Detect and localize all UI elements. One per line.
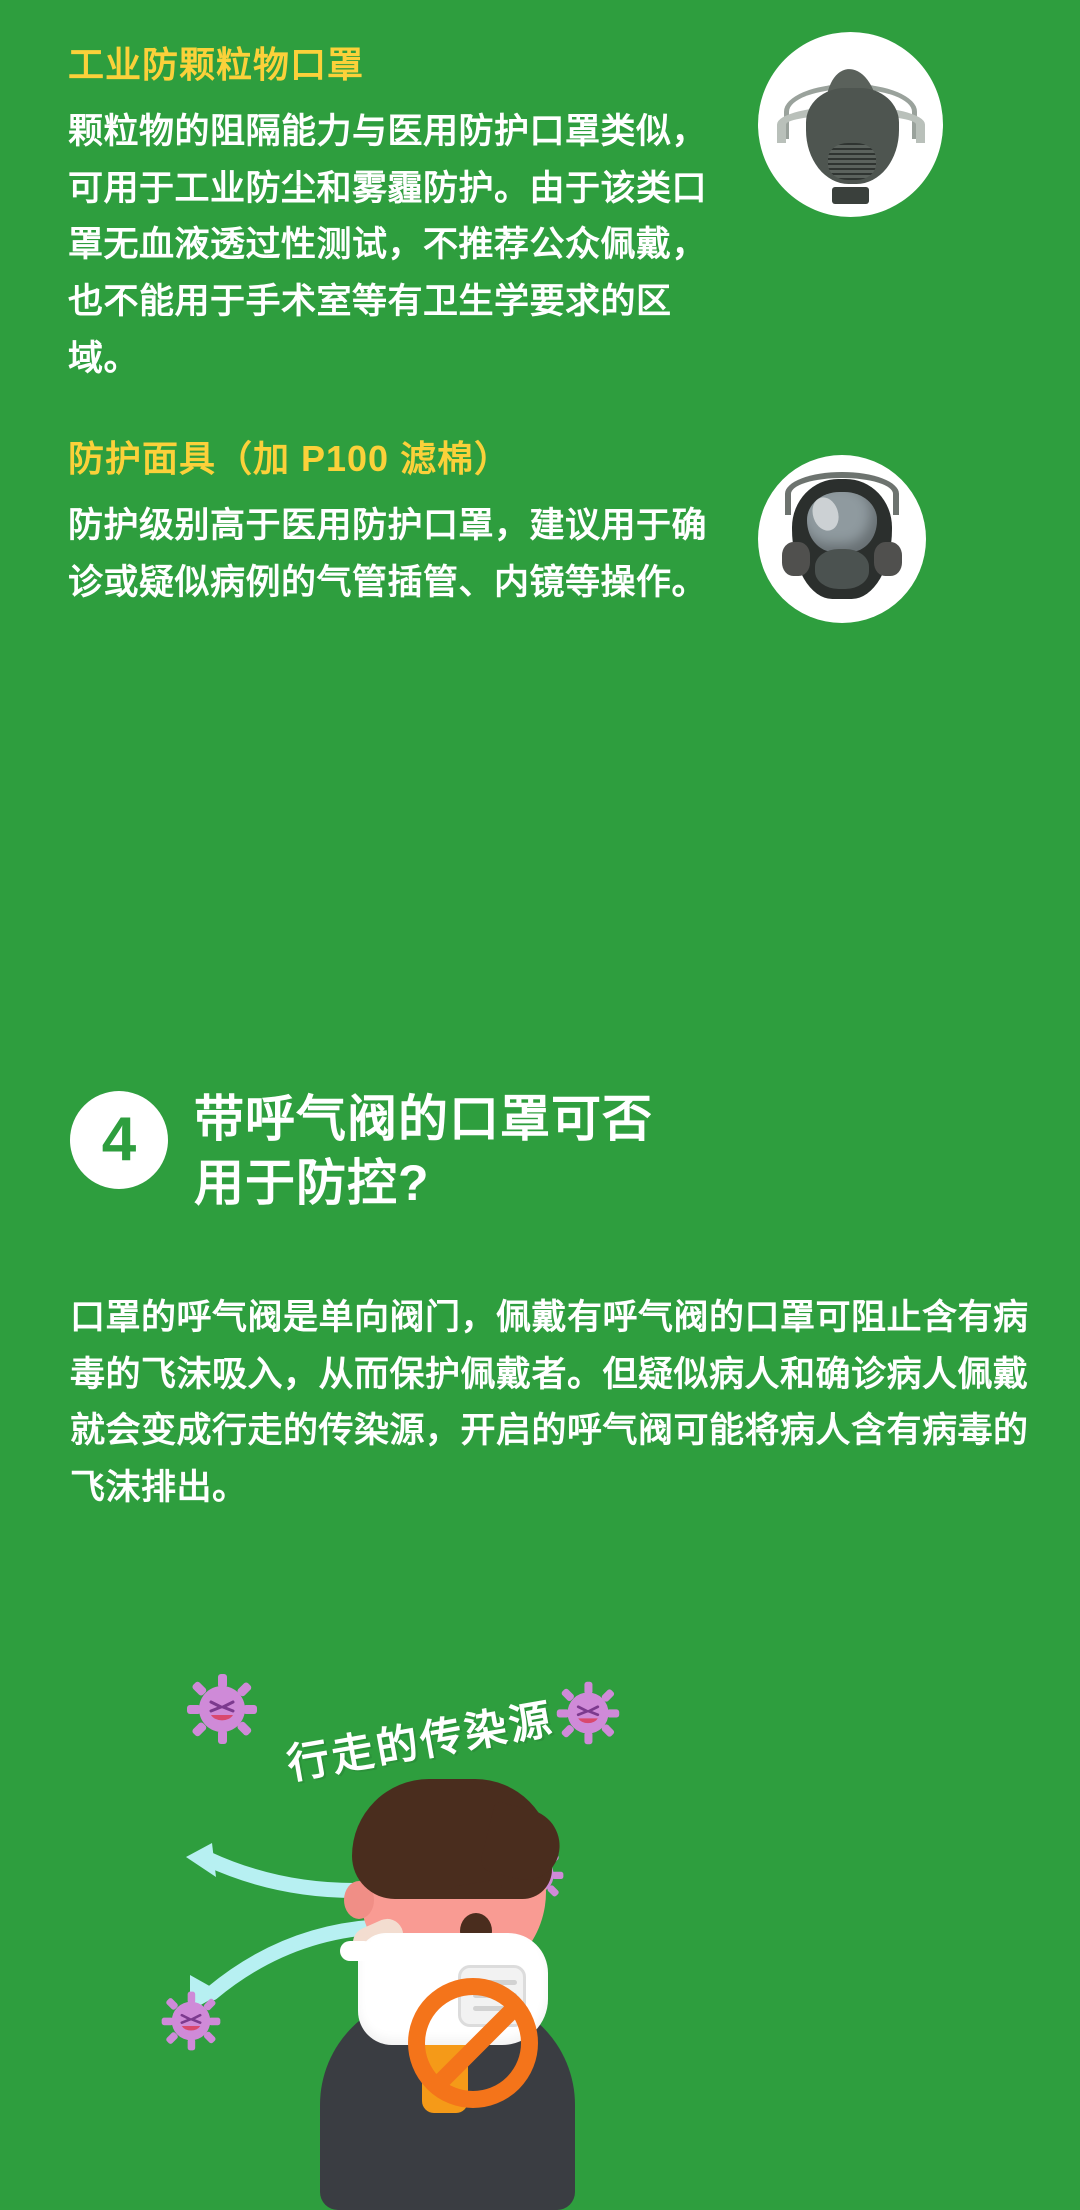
section-protective-face-mask-p100: 防护面具（加 P100 滤棉） 防护级别高于医用防护口罩，建议用于确诊或疑似病例…: [68, 430, 728, 611]
section-1-heading: 工业防颗粒物口罩: [68, 36, 728, 88]
virus-character-icon: [555, 1680, 621, 1746]
full-face-mask-photo: [758, 455, 926, 623]
mask-exhalation-port-icon: [815, 549, 869, 589]
section-2-body: 防护级别高于医用防护口罩，建议用于确诊或疑似病例的气管插管、内镜等操作。: [68, 498, 718, 611]
illustration-walking-infection-source: 行走的传染源: [0, 1660, 1080, 2198]
section-1-body: 颗粒物的阻隔能力与医用防护口罩类似，可用于工业防尘和雾霾防护。由于该类口罩无血液…: [68, 104, 718, 387]
virus-character-icon: [185, 1672, 259, 1746]
question-4-body: 口罩的呼气阀是单向阀门，佩戴有呼气阀的口罩可阻止含有病毒的飞沫吸入，从而保护佩戴…: [70, 1290, 1030, 1517]
section-industrial-particulate-mask: 工业防颗粒物口罩 颗粒物的阻隔能力与医用防护口罩类似，可用于工业防尘和雾霾防护。…: [68, 36, 728, 387]
infographic-page: 工业防颗粒物口罩 颗粒物的阻隔能力与医用防护口罩类似，可用于工业防尘和雾霾防护。…: [0, 0, 1080, 2198]
question-4-title-line-2: 用于防控?: [194, 1151, 653, 1215]
question-4-title: 带呼气阀的口罩可否 用于防控?: [194, 1085, 653, 1215]
question-4-title-line-1: 带呼气阀的口罩可否: [194, 1087, 653, 1151]
half-face-respirator-photo: [758, 32, 943, 217]
section-2-heading: 防护面具（加 P100 滤棉）: [68, 430, 728, 482]
respirator-filter-vent-icon: [828, 143, 876, 180]
mask-filter-cartridge-right-icon: [874, 542, 903, 576]
prohibition-sign-icon: [408, 1978, 538, 2108]
question-number-badge: 4: [70, 1091, 168, 1189]
person-mask-strap: [340, 1941, 374, 1961]
question-4-header: 4 带呼气阀的口罩可否 用于防控?: [70, 1085, 1010, 1215]
mask-filter-cartridge-left-icon: [782, 542, 811, 576]
respirator-bottom-clip-icon: [832, 187, 869, 204]
virus-character-icon: [160, 1990, 222, 2052]
